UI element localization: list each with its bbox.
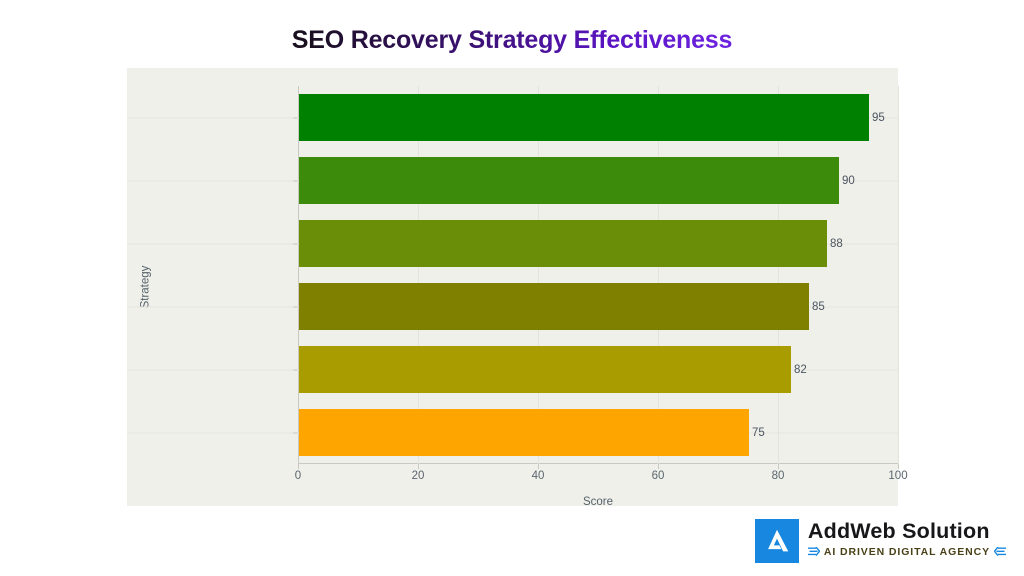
x-axis-line xyxy=(298,463,898,464)
logo-tagline: AI DRIVEN DIGITAL AGENCY xyxy=(824,546,990,558)
x-axis-tick xyxy=(658,464,659,469)
y-axis-tick xyxy=(293,369,298,370)
bar[interactable] xyxy=(299,283,809,330)
bar[interactable] xyxy=(299,157,839,204)
y-axis-tick xyxy=(293,243,298,244)
chart-row: Schema Implementation75 xyxy=(298,409,898,456)
x-axis-tick-label: 40 xyxy=(532,470,545,482)
chart-row: Technical SEO Fixes85 xyxy=(298,283,898,330)
y-axis-tick xyxy=(293,432,298,433)
y-axis-tick xyxy=(293,180,298,181)
arrow-left-icon xyxy=(808,543,820,561)
bar-value-label: 90 xyxy=(842,175,855,187)
x-gridline xyxy=(538,86,539,464)
logo-text: AddWeb Solution AI DRIVEN DIGITAL AGENCY xyxy=(808,521,1006,562)
bar-value-label: 85 xyxy=(812,301,825,313)
bar[interactable] xyxy=(299,409,749,456)
x-axis-tick xyxy=(898,464,899,469)
bar-value-label: 82 xyxy=(794,364,807,376)
y-axis-line xyxy=(298,86,299,464)
chart-row: Content Quality Improvement95 xyxy=(298,94,898,141)
y-axis-title: Strategy xyxy=(139,266,151,309)
plot-area: Score 020406080100Content Quality Improv… xyxy=(298,86,898,464)
bar[interactable] xyxy=(299,220,827,267)
x-axis-tick xyxy=(538,464,539,469)
chart-panel: Strategy Score 020406080100Content Quali… xyxy=(127,68,898,506)
x-gridline xyxy=(658,86,659,464)
logo-company-name: AddWeb Solution xyxy=(808,521,1006,543)
bar[interactable] xyxy=(299,94,869,141)
bar-value-label: 95 xyxy=(872,112,885,124)
y-axis-tick xyxy=(293,306,298,307)
x-axis-tick-label: 60 xyxy=(652,470,665,482)
chart-screenshot: SEO Recovery Strategy Effectiveness Stra… xyxy=(0,0,1024,576)
x-axis-tick xyxy=(298,464,299,469)
x-axis-tick-label: 20 xyxy=(412,470,425,482)
x-gridline xyxy=(418,86,419,464)
x-axis-tick xyxy=(418,464,419,469)
logo-tagline-row: AI DRIVEN DIGITAL AGENCY xyxy=(808,543,1006,561)
arrow-right-icon xyxy=(994,543,1006,561)
logo-mark-icon xyxy=(755,519,799,563)
chart-row: E-E-A-T Enhancement90 xyxy=(298,157,898,204)
chart-row: Core Web Vitals82 xyxy=(298,346,898,393)
x-axis-tick-label: 80 xyxy=(772,470,785,482)
x-axis-tick-label: 0 xyxy=(295,470,301,482)
chart-row: Mobile Optimization88 xyxy=(298,220,898,267)
x-gridline xyxy=(778,86,779,464)
y-axis-tick xyxy=(293,117,298,118)
bar-value-label: 75 xyxy=(752,427,765,439)
page-title: SEO Recovery Strategy Effectiveness xyxy=(0,26,1024,55)
x-gridline xyxy=(898,86,899,464)
bar[interactable] xyxy=(299,346,791,393)
x-axis-title: Score xyxy=(298,496,898,508)
brand-logo: AddWeb Solution AI DRIVEN DIGITAL AGENCY xyxy=(755,519,1006,563)
x-axis-tick-label: 100 xyxy=(888,470,907,482)
bar-value-label: 88 xyxy=(830,238,843,250)
x-axis-tick xyxy=(778,464,779,469)
